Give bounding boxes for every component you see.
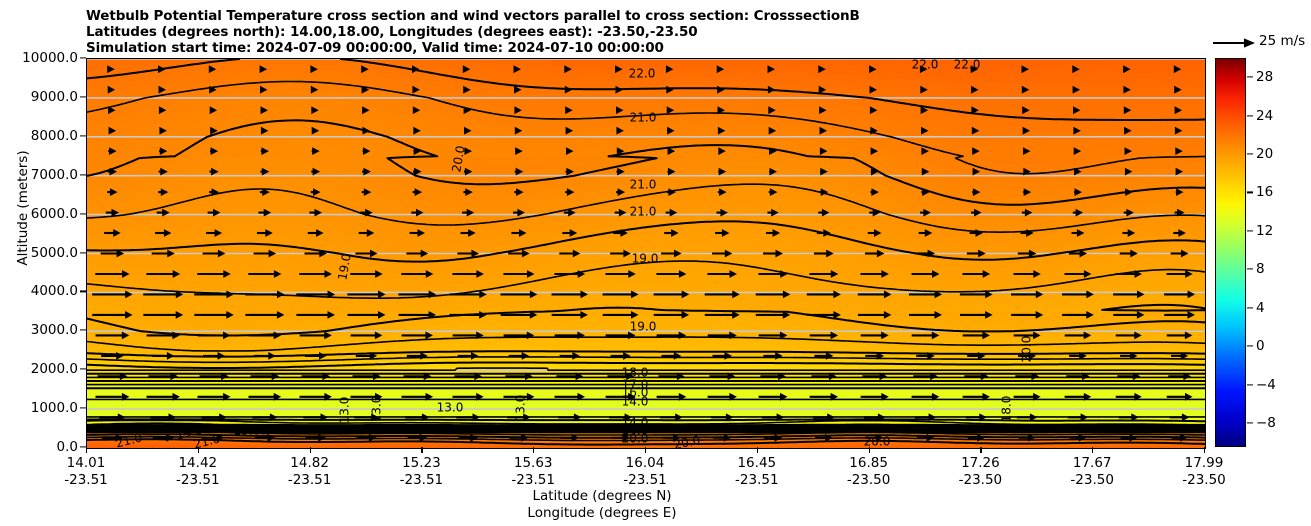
wind-arrow <box>249 332 282 340</box>
wind-arrow <box>657 332 687 340</box>
wind-arrow <box>146 270 180 278</box>
x-tick-label-longitude: -23.50 <box>959 472 1003 488</box>
wind-arrow <box>809 270 838 278</box>
wind-arrow <box>95 270 129 278</box>
wind-arrow <box>921 147 929 155</box>
x-tick-mark <box>421 447 422 453</box>
wind-arrow <box>920 86 928 94</box>
wind-arrow <box>912 270 940 278</box>
x-tick-mark <box>1204 447 1205 453</box>
wind-arrow <box>617 168 625 176</box>
wind-arrow <box>260 86 268 94</box>
x-tick-mark <box>1092 447 1093 453</box>
wind-arrow <box>820 147 828 155</box>
wind-arrow <box>152 352 174 360</box>
wind-arrow <box>560 352 580 360</box>
wind-arrow <box>667 168 675 176</box>
wind-arrow <box>203 250 226 258</box>
wind-arrow <box>96 332 130 340</box>
wind-arrow <box>1176 168 1184 176</box>
wind-arrow <box>399 311 437 319</box>
wind-arrow <box>1065 270 1092 278</box>
wind-arrow <box>919 229 933 237</box>
wind-arrow <box>1122 229 1135 237</box>
wind-arrow <box>817 229 831 237</box>
wind-arrow <box>810 332 838 340</box>
svg-text:19.0: 19.0 <box>630 320 657 334</box>
wind-arrow <box>1121 434 1137 442</box>
contour-label: 19.0 <box>628 320 659 335</box>
wind-arrow <box>261 106 269 114</box>
wind-arrow <box>717 86 725 94</box>
wind-arrow <box>159 147 167 155</box>
wind-arrow <box>870 106 878 114</box>
wind-arrow <box>351 332 383 340</box>
wind-arrow <box>311 188 321 196</box>
wind-arrow <box>1072 229 1085 237</box>
wind-arrow <box>768 65 776 73</box>
wind-arrow <box>763 352 782 360</box>
y-tick-label: 3000.0 <box>31 322 78 338</box>
svg-text:13.0: 13.0 <box>437 401 464 415</box>
wind-arrow <box>820 168 828 176</box>
wind-arrow <box>921 127 929 135</box>
wind-arrow <box>514 65 522 73</box>
x-tick-mark <box>869 447 870 453</box>
y-tick-mark <box>80 330 86 331</box>
wind-arrow <box>616 106 624 114</box>
y-tick-mark <box>80 369 86 370</box>
wind-arrow <box>814 250 834 258</box>
y-tick-mark <box>80 408 86 409</box>
wind-arrow <box>718 127 726 135</box>
wind-arrow <box>1023 127 1031 135</box>
wind-arrow <box>159 106 167 114</box>
wind-arrow <box>865 250 884 258</box>
contour-label: 19.0 <box>630 252 661 267</box>
wind-arrow <box>108 106 116 114</box>
wind-arrow <box>603 311 639 319</box>
wind-arrow <box>1113 311 1144 319</box>
colorbar-tick-label: 28 <box>1256 69 1273 85</box>
colorbar-tick-label: 0 <box>1256 338 1265 354</box>
wind-arrow <box>664 229 678 237</box>
wind-arrow <box>509 352 530 360</box>
x-tick-label-latitude: 16.04 <box>626 455 665 471</box>
contour-label: 22.0 <box>952 59 983 72</box>
wind-arrow <box>1022 106 1029 114</box>
wind-arrow <box>401 270 433 278</box>
wind-arrow <box>159 86 167 94</box>
wind-arrow <box>820 127 828 135</box>
wind-arrow <box>820 188 829 196</box>
wind-arrow <box>870 188 879 196</box>
wind-arrow <box>515 147 523 155</box>
y-tick-label: 4000.0 <box>31 283 78 299</box>
wind-arrow <box>203 352 225 360</box>
wind-arrow <box>464 106 472 114</box>
wind-arrow <box>210 168 219 176</box>
wind-arrow <box>667 188 676 196</box>
wind-arrow <box>870 86 878 94</box>
wind-arrow <box>1065 332 1092 340</box>
wind-arrow <box>209 65 217 73</box>
x-tick-label-longitude: -23.50 <box>1070 472 1114 488</box>
wind-reference-label: 25 m/s <box>1259 33 1305 49</box>
wind-arrow <box>713 352 733 360</box>
wind-arrow <box>1074 147 1082 155</box>
wind-arrow <box>768 86 776 94</box>
wind-arrow <box>305 352 327 360</box>
chart-page: Wetbulb Potential Temperature cross sect… <box>0 0 1311 526</box>
x-tick-mark <box>310 447 311 453</box>
colorbar-tick-mark <box>1247 153 1253 154</box>
colorbar-gradient <box>1216 59 1245 446</box>
wind-arrow <box>922 168 930 176</box>
wind-arrow <box>565 188 574 196</box>
wind-arrow <box>861 270 889 278</box>
y-tick-mark <box>80 135 86 136</box>
wind-arrow <box>819 86 827 94</box>
y-tick-mark <box>80 446 86 447</box>
wind-arrow <box>1174 86 1182 94</box>
wind-arrow <box>260 168 269 176</box>
x-tick-label-latitude: 14.42 <box>178 455 217 471</box>
y-tick-label: 8000.0 <box>31 128 78 144</box>
wind-arrow <box>362 168 371 176</box>
wind-arrow <box>1120 250 1138 258</box>
wind-arrow <box>464 127 472 135</box>
wind-arrow <box>504 332 535 340</box>
x-tick-label-longitude: -23.51 <box>288 472 332 488</box>
wind-arrow <box>464 147 472 155</box>
wind-arrow <box>412 65 420 73</box>
wind-arrow <box>348 311 386 319</box>
wind-arrow <box>413 127 421 135</box>
wind-arrow <box>562 229 577 237</box>
wind-arrow <box>361 65 369 73</box>
wind-arrow <box>515 168 524 176</box>
x-tick-mark <box>198 447 199 453</box>
wind-arrow <box>463 65 471 73</box>
wind-arrow <box>410 229 425 237</box>
svg-text:15.0: 15.0 <box>234 424 261 438</box>
colorbar-tick-label: −4 <box>1256 377 1276 393</box>
wind-arrow <box>152 250 175 258</box>
wind-arrow <box>611 352 631 360</box>
wind-arrow <box>869 65 877 73</box>
wind-arrow <box>559 250 580 258</box>
wind-arrow <box>769 168 777 176</box>
colorbar-tick-mark <box>1247 307 1253 308</box>
x-tick-mark <box>86 447 87 453</box>
wind-arrow <box>1175 147 1183 155</box>
plot-area: 22.022.022.021.020.021.021.019.019.019.0… <box>86 58 1206 449</box>
y-tick-label: 7000.0 <box>31 167 78 183</box>
wind-arrow <box>514 106 522 114</box>
wind-arrow <box>515 127 523 135</box>
wind-arrow <box>707 270 737 278</box>
colorbar-tick-mark <box>1247 422 1253 423</box>
wind-arrow <box>308 229 324 237</box>
y-tick-label: 10000.0 <box>22 50 78 66</box>
wind-arrow <box>306 434 326 442</box>
contour-label: 21.0 <box>628 111 659 126</box>
wind-arrow <box>108 147 116 155</box>
svg-text:21.0: 21.0 <box>630 178 657 192</box>
colorbar-tick-label: 24 <box>1256 108 1273 124</box>
wind-arrow <box>1124 106 1132 114</box>
colorbar-tick-mark <box>1247 115 1253 116</box>
colorbar-tick-label: 20 <box>1256 146 1273 162</box>
wind-arrow <box>159 168 168 176</box>
wind-arrow <box>1022 86 1030 94</box>
wind-arrow <box>107 188 117 196</box>
wind-arrow <box>248 270 281 278</box>
wind-arrow <box>198 332 231 340</box>
wind-arrow <box>311 168 320 176</box>
wind-arrow <box>296 311 335 319</box>
wind-arrow <box>666 86 674 94</box>
wind-arrow <box>402 332 433 340</box>
wind-arrow <box>565 86 573 94</box>
x-tick-label-longitude: -23.51 <box>511 472 555 488</box>
colorbar-tick-mark <box>1247 384 1253 385</box>
wind-arrow <box>159 127 167 135</box>
wind-arrow <box>511 229 526 237</box>
wind-arrow <box>155 229 171 237</box>
y-tick-mark <box>80 252 86 253</box>
wind-arrow <box>206 229 222 237</box>
y-tick-label: 9000.0 <box>31 89 78 105</box>
wind-arrow <box>718 168 726 176</box>
wind-arrow <box>1176 188 1184 196</box>
wind-arrow <box>972 147 980 155</box>
wind-arrow <box>245 311 284 319</box>
wind-arrow <box>1164 311 1195 319</box>
wind-arrow <box>566 127 574 135</box>
wind-arrow <box>769 127 777 135</box>
wind-arrow <box>661 250 681 258</box>
colorbar-tick-mark <box>1247 77 1253 78</box>
wind-arrow <box>971 86 979 94</box>
colorbar-tick-label: 4 <box>1256 300 1265 316</box>
wind-arrow <box>458 352 479 360</box>
wind-arrow <box>107 65 115 73</box>
wind-arrow <box>667 106 675 114</box>
wind-arrow <box>666 65 674 73</box>
wind-arrow <box>963 270 991 278</box>
wind-arrow <box>143 311 183 319</box>
wind-arrow <box>514 188 523 196</box>
wind-arrow <box>450 311 487 319</box>
contour-label: 20.0 <box>1020 334 1035 365</box>
wind-arrow <box>362 106 370 114</box>
contour-label: 21.0 <box>628 178 659 193</box>
x-tick-label-longitude: -23.51 <box>400 472 444 488</box>
svg-text:20.0: 20.0 <box>1020 336 1034 363</box>
wind-arrow <box>459 434 478 442</box>
wind-arrow <box>565 106 573 114</box>
wind-arrow <box>1125 188 1133 196</box>
wind-arrow <box>210 147 218 155</box>
wind-arrow <box>452 270 484 278</box>
wind-arrow <box>1171 250 1189 258</box>
wind-arrow <box>552 311 588 319</box>
wind-arrow <box>197 270 231 278</box>
svg-text:19.0: 19.0 <box>632 252 659 266</box>
wind-arrow <box>718 188 727 196</box>
y-tick-label: 6000.0 <box>31 206 78 222</box>
x-tick-label-longitude: -23.51 <box>176 472 220 488</box>
colorbar-tick-mark <box>1247 346 1253 347</box>
wind-arrow <box>858 311 892 319</box>
wind-arrow <box>350 270 382 278</box>
y-tick-label: 2000.0 <box>31 361 78 377</box>
contour-label: 19.0 <box>335 251 355 284</box>
right-arrow-icon <box>1211 35 1257 51</box>
wind-arrow <box>769 188 778 196</box>
x-tick-label-longitude: -23.51 <box>623 472 667 488</box>
wind-arrow <box>357 434 377 442</box>
colorbar-tick-mark <box>1247 230 1253 231</box>
wind-arrow <box>818 65 826 73</box>
wind-arrow <box>311 86 319 94</box>
wind-arrow <box>254 250 277 258</box>
wind-arrow <box>972 127 980 135</box>
x-tick-label-latitude: 14.01 <box>67 455 106 471</box>
contour-label: 13.0 <box>435 401 466 416</box>
wind-arrow <box>158 188 168 196</box>
colorbar-tick-label: 12 <box>1256 223 1273 239</box>
x-tick-mark <box>645 447 646 453</box>
x-tick-label-latitude: 16.45 <box>737 455 776 471</box>
wind-arrow <box>656 270 686 278</box>
x-tick-label-latitude: 17.99 <box>1185 455 1224 471</box>
wind-arrow <box>1014 270 1041 278</box>
wind-arrow <box>605 270 635 278</box>
wind-arrow <box>413 106 421 114</box>
x-tick-label-longitude: -23.51 <box>735 472 779 488</box>
wind-reference-key: 25 m/s <box>1211 33 1311 55</box>
wind-arrow <box>412 86 420 94</box>
x-axis-label-longitude: Longitude (degrees E) <box>0 505 1204 521</box>
wind-arrow <box>819 106 827 114</box>
wind-arrow <box>312 127 320 135</box>
wind-arrow <box>363 147 371 155</box>
wind-arrow <box>764 434 782 442</box>
y-tick-mark <box>80 96 86 97</box>
wind-arrow <box>503 270 534 278</box>
wind-arrow <box>261 127 269 135</box>
wind-arrow <box>463 86 471 94</box>
wind-arrow <box>667 127 675 135</box>
title-line-2: Latitudes (degrees north): 14.00,18.00, … <box>86 24 1186 40</box>
wind-arrow <box>463 188 472 196</box>
wind-arrow <box>1124 127 1132 135</box>
wind-arrow <box>1175 106 1183 114</box>
wind-arrow <box>973 168 981 176</box>
wind-arrow <box>566 168 574 176</box>
wind-arrow <box>1073 106 1081 114</box>
contour-label: 13.0 <box>338 395 353 426</box>
wind-arrow <box>768 106 776 114</box>
x-axis-label-latitude: Latitude (degrees N) <box>0 488 1204 504</box>
title-line-1: Wetbulb Potential Temperature cross sect… <box>86 8 1186 24</box>
wind-arrow <box>1072 65 1080 73</box>
wind-arrow <box>1123 86 1131 94</box>
svg-text:19.0: 19.0 <box>335 253 353 282</box>
wind-arrow <box>1074 188 1082 196</box>
wind-arrow <box>464 168 473 176</box>
colorbar-tick-label: −8 <box>1256 415 1276 431</box>
x-tick-label-latitude: 15.23 <box>402 455 441 471</box>
contour-label: 22.0 <box>627 67 658 82</box>
wind-arrow <box>616 127 624 135</box>
wind-arrow <box>1167 332 1193 340</box>
wind-arrow <box>104 229 121 237</box>
x-tick-label-longitude: -23.51 <box>64 472 108 488</box>
svg-text:13.0: 13.0 <box>338 397 352 424</box>
wind-arrow <box>108 86 116 94</box>
wind-arrow <box>718 147 726 155</box>
wind-arrow <box>1175 127 1183 135</box>
wind-arrow <box>92 311 132 319</box>
wind-arrow <box>766 229 780 237</box>
svg-text:21.0: 21.0 <box>630 111 657 125</box>
wind-arrow <box>1023 147 1031 155</box>
wind-arrow <box>1116 332 1142 340</box>
colorbar <box>1215 58 1246 447</box>
wind-arrow <box>715 229 729 237</box>
wind-arrow <box>610 250 631 258</box>
wind-arrow <box>909 311 942 319</box>
wind-arrow <box>311 106 319 114</box>
x-tick-label-latitude: 17.26 <box>961 455 1000 471</box>
wind-arrow <box>210 106 218 114</box>
y-tick-mark <box>80 57 86 58</box>
contour-and-wind-overlay: 22.022.022.021.020.021.021.019.019.019.0… <box>87 59 1205 448</box>
wind-arrow <box>1011 311 1043 319</box>
wind-arrow <box>1173 229 1186 237</box>
wind-arrow <box>363 127 371 135</box>
wind-arrow <box>960 311 993 319</box>
wind-arrow <box>861 332 889 340</box>
wind-arrow <box>963 332 990 340</box>
x-tick-mark <box>757 447 758 453</box>
wind-arrow <box>257 229 273 237</box>
wind-arrow <box>1022 65 1030 73</box>
wind-arrow <box>109 127 117 135</box>
y-tick-label: 1000.0 <box>31 400 78 416</box>
svg-text:18.0: 18.0 <box>1000 396 1014 423</box>
wind-arrow <box>868 229 882 237</box>
wind-arrow <box>871 147 879 155</box>
wind-arrow <box>254 352 276 360</box>
wind-arrow <box>1023 188 1031 196</box>
wind-arrow <box>310 65 318 73</box>
y-axis-ticks: 0.01000.02000.03000.04000.05000.06000.07… <box>0 58 78 447</box>
x-tick-label-latitude: 14.82 <box>290 455 329 471</box>
x-tick-mark <box>980 447 981 453</box>
wind-arrow <box>972 188 980 196</box>
svg-text:22.0: 22.0 <box>629 67 656 81</box>
colorbar-tick-mark <box>1247 192 1253 193</box>
wind-arrow <box>312 147 320 155</box>
wind-arrow <box>615 65 623 73</box>
wind-arrow <box>1125 168 1133 176</box>
wind-arrow <box>413 188 423 196</box>
